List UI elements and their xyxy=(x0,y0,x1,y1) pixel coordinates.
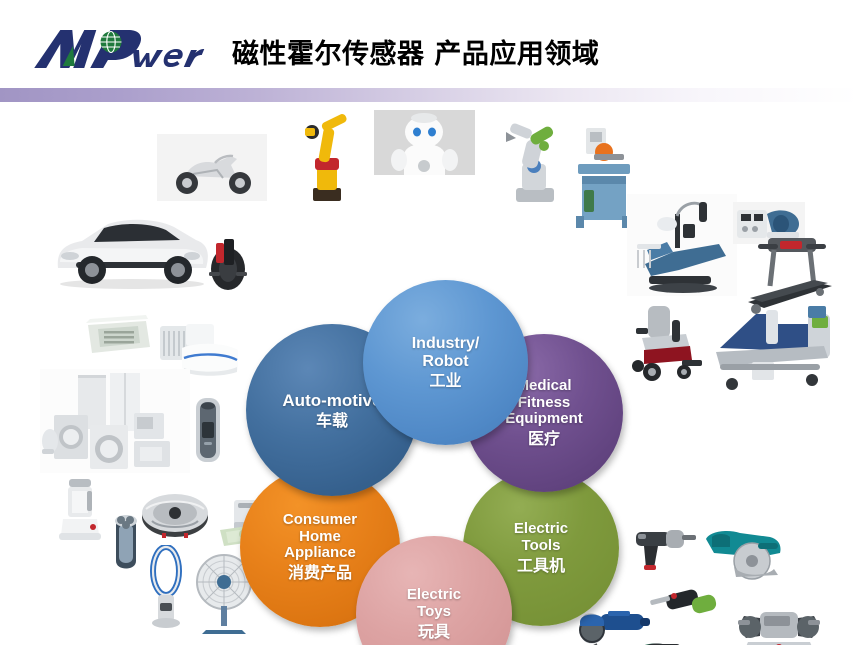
bubble-industry-robot-cn: 工业 xyxy=(429,372,461,390)
photo-appliance-group xyxy=(40,369,190,473)
bubble-consumer-cn: 消费产品 xyxy=(288,564,352,582)
bubble-industry-robot-en-line2: Robot xyxy=(422,353,468,371)
bubble-electric-tools-cn: 工具机 xyxy=(517,557,565,575)
photo-ceiling-ac xyxy=(80,311,156,363)
bubble-consumer-en-line1: Consumer xyxy=(283,512,357,529)
bubble-electric-toys-en-line1: Electric xyxy=(407,587,461,604)
slide-header: 磁性霍尔传感器 产品应用领域 xyxy=(0,0,859,92)
photo-bladeless-fan xyxy=(148,545,184,631)
photo-air-purifier xyxy=(192,394,224,466)
bubble-medical-en-line3: Equipment xyxy=(505,411,583,428)
bubble-electric-tools-en-line1: Electric xyxy=(514,521,568,538)
bubble-auto-motive-cn: 车载 xyxy=(316,412,348,430)
photo-power-wheelchair xyxy=(628,298,714,384)
photo-electric-sedan xyxy=(46,204,216,290)
page-title: 磁性霍尔传感器 产品应用领域 xyxy=(232,32,599,71)
photo-robot-vacuum xyxy=(140,491,210,541)
mpower-logo xyxy=(28,22,218,74)
photo-bench-grinder xyxy=(736,600,822,645)
bubble-consumer-en-line2: Home xyxy=(299,529,341,546)
photo-electric-unicycle xyxy=(207,229,249,295)
bubble-auto-motive-en: Auto-motive xyxy=(282,391,381,410)
photo-circular-saw xyxy=(700,527,786,587)
slide-canvas: 磁性霍尔传感器 产品应用领域 xyxy=(0,0,859,645)
photo-humanoid-robot xyxy=(374,110,475,175)
bubble-medical-en-line2: Fitness xyxy=(518,395,571,412)
bubble-industry-robot-en-line1: Industry/ xyxy=(412,335,480,353)
photo-blender xyxy=(57,475,103,543)
photo-impact-wrench xyxy=(632,522,698,574)
bubble-medical-cn: 医疗 xyxy=(528,430,560,448)
bubble-consumer-en-line3: Appliance xyxy=(284,545,356,562)
photo-robot-arm-green xyxy=(500,116,566,206)
bubble-electric-tools-en-line2: Tools xyxy=(522,538,561,555)
bubble-industry-robot[interactable]: Industry/ Robot 工业 xyxy=(363,280,528,445)
content-collage: Electric Tools 工具机 Consumer Home Applian… xyxy=(0,102,859,645)
photo-chainsaw xyxy=(630,632,730,645)
photo-dental-chair xyxy=(627,194,737,296)
bubble-electric-toys-cn: 玩具 xyxy=(418,623,450,641)
photo-hospital-bed xyxy=(712,300,838,394)
photo-electric-scooter xyxy=(157,134,267,201)
header-divider-bar xyxy=(0,88,859,102)
photo-electric-shaver xyxy=(110,509,142,573)
photo-cordless-screwdriver xyxy=(648,584,720,626)
photo-robot-arm-yellow xyxy=(297,110,357,205)
bubble-electric-toys-en-line2: Toys xyxy=(417,604,451,621)
